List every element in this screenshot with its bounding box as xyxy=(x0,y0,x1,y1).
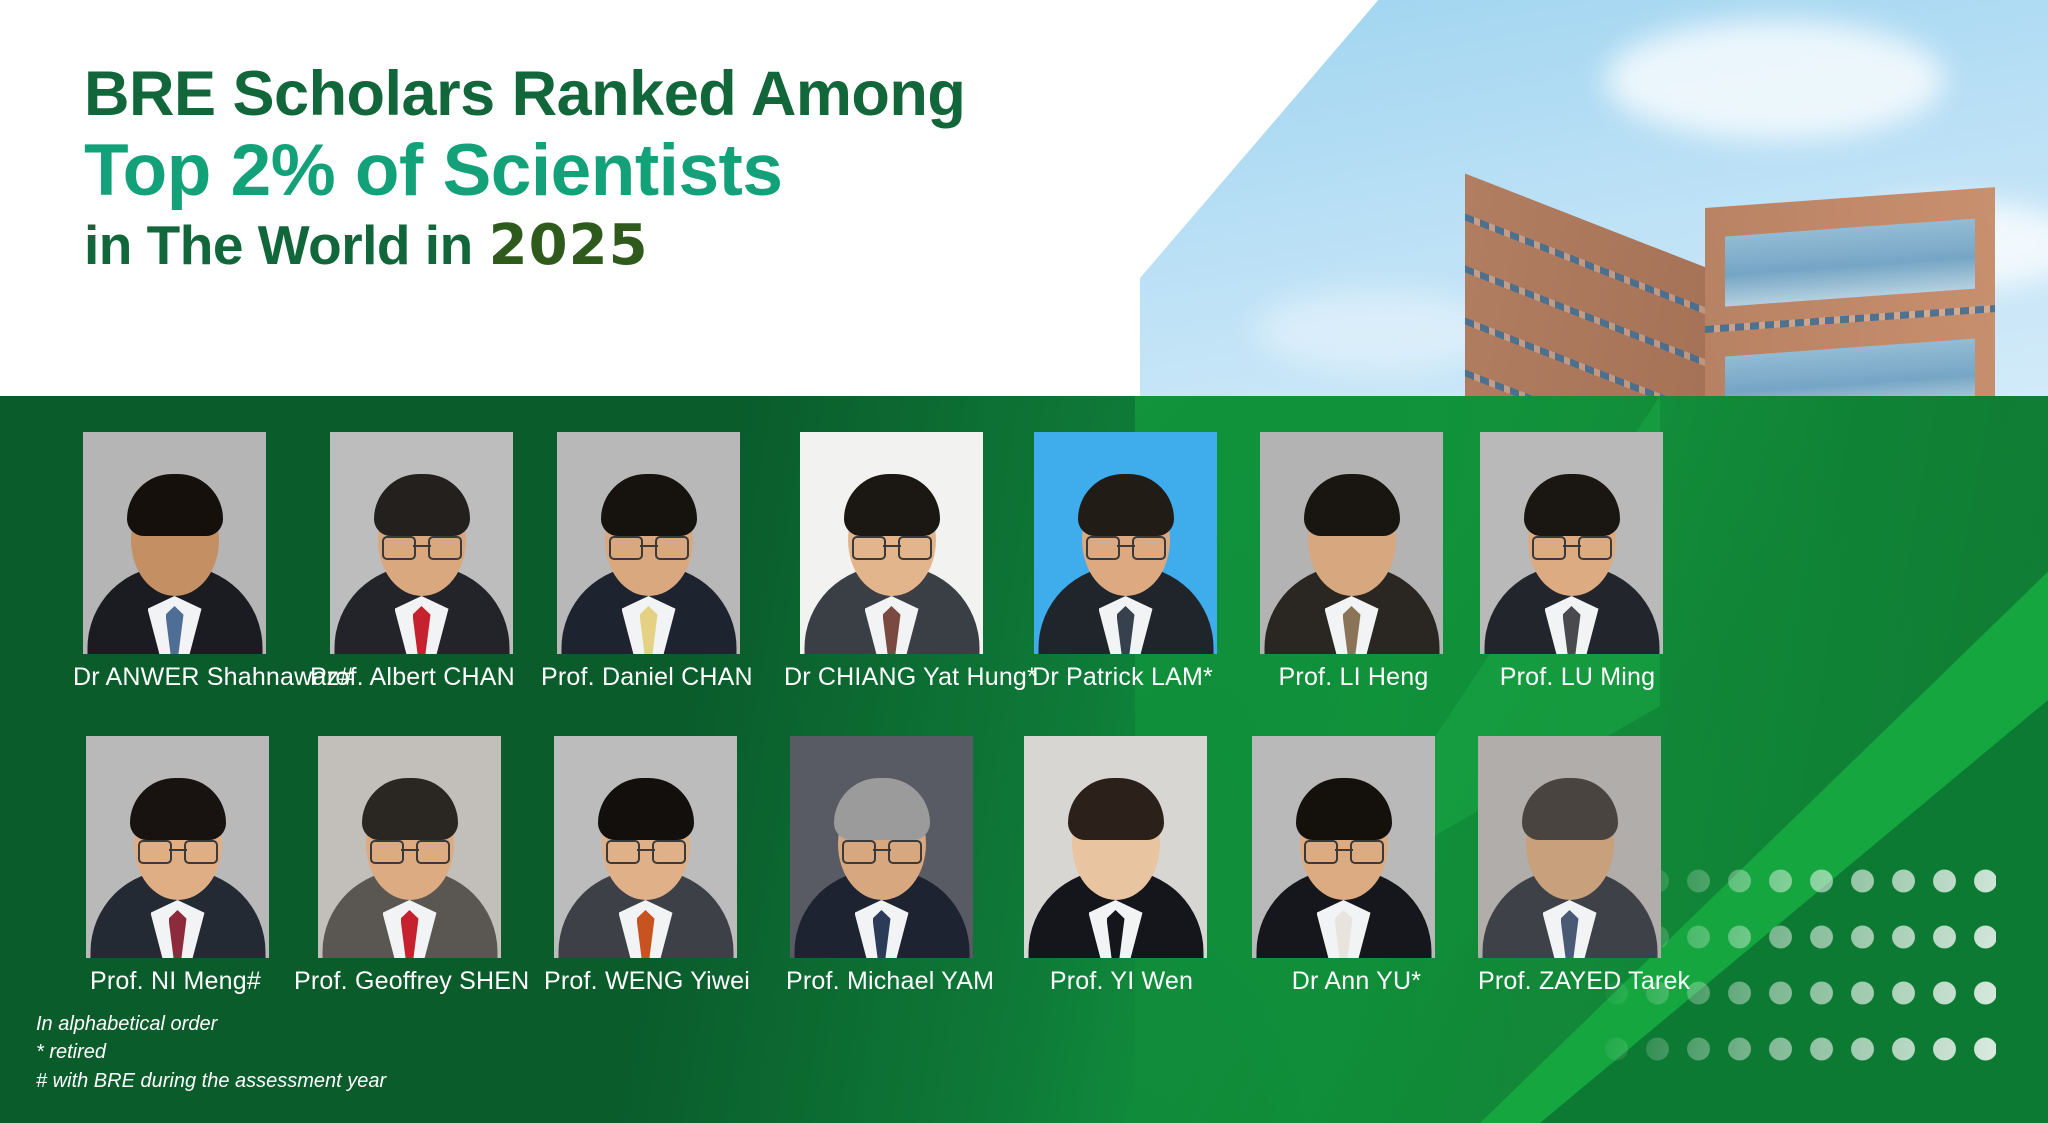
scholar-card[interactable]: Prof. LI Heng xyxy=(1260,432,1443,692)
scholar-headshot xyxy=(554,736,737,958)
scholar-headshot xyxy=(318,736,501,958)
scholar-card[interactable]: Prof. WENG Yiwei xyxy=(554,736,750,996)
footnote-line: # with BRE during the assessment year xyxy=(36,1067,386,1095)
scholar-name-label: Prof. Geoffrey SHEN xyxy=(294,967,529,996)
scholar-name-label: Dr CHIANG Yat Hung* xyxy=(784,663,1037,692)
scholar-headshot xyxy=(86,736,269,958)
scholar-headshot xyxy=(1478,736,1661,958)
scholar-card[interactable]: Prof. Daniel CHAN xyxy=(557,432,753,692)
cloud-shape xyxy=(1255,290,1495,370)
scholar-name-label: Dr Ann YU* xyxy=(1278,967,1435,996)
scholar-headshot xyxy=(790,736,973,958)
headline-year: 2025 xyxy=(489,213,649,278)
eyeglasses-icon xyxy=(842,840,922,860)
scholar-card[interactable]: Prof. NI Meng# xyxy=(86,736,269,996)
scholar-name-label: Prof. Daniel CHAN xyxy=(541,663,753,692)
scholar-headshot xyxy=(1024,736,1207,958)
scholar-headshot xyxy=(1480,432,1663,654)
eyeglasses-icon xyxy=(609,536,689,556)
headline-line-1: BRE Scholars Ranked Among xyxy=(84,62,1104,126)
eyeglasses-icon xyxy=(138,840,218,860)
scholar-name-label: Prof. WENG Yiwei xyxy=(544,967,750,996)
eyeglasses-icon xyxy=(606,840,686,860)
scholar-headshot xyxy=(1252,736,1435,958)
scholar-headshot xyxy=(1034,432,1217,654)
headline-line-3-text: in The World in xyxy=(84,214,473,276)
scholar-name-label: Prof. LI Heng xyxy=(1264,663,1443,692)
headline-line-3: in The World in2025 xyxy=(84,217,1104,274)
eyeglasses-icon xyxy=(1532,536,1612,556)
headline-line-2: Top 2% of Scientists xyxy=(84,134,1104,208)
poster-headline: BRE Scholars Ranked Among Top 2% of Scie… xyxy=(84,62,1104,274)
scholar-card[interactable]: Prof. YI Wen xyxy=(1024,736,1207,996)
scholar-headshot xyxy=(800,432,983,654)
scholar-headshot xyxy=(1260,432,1443,654)
footnote-line: * retired xyxy=(36,1038,386,1066)
eyeglasses-icon xyxy=(370,840,450,860)
eyeglasses-icon xyxy=(852,536,932,556)
scholar-headshot xyxy=(83,432,266,654)
scholar-card[interactable]: Dr ANWER Shahnawaz# xyxy=(83,432,353,692)
scholar-name-label: Prof. Albert CHAN xyxy=(310,663,515,692)
scholar-name-label: Prof. Michael YAM xyxy=(786,967,994,996)
poster-canvas: BRE Scholars Ranked Among Top 2% of Scie… xyxy=(0,0,2048,1123)
scholar-name-label: Prof. LU Ming xyxy=(1492,663,1663,692)
scholar-name-label: Prof. ZAYED Tarek xyxy=(1478,967,1690,996)
scholar-card[interactable]: Dr CHIANG Yat Hung* xyxy=(800,432,1037,692)
scholar-card[interactable]: Prof. Michael YAM xyxy=(790,736,994,996)
scholar-card[interactable]: Dr Patrick LAM* xyxy=(1034,432,1217,692)
cloud-shape xyxy=(1605,20,1945,140)
scholar-headshot xyxy=(330,432,513,654)
eyeglasses-icon xyxy=(1304,840,1384,860)
scholar-headshot xyxy=(557,432,740,654)
eyeglasses-icon xyxy=(382,536,462,556)
scholar-card[interactable]: Dr Ann YU* xyxy=(1252,736,1435,996)
scholar-card[interactable]: Prof. Geoffrey SHEN xyxy=(318,736,529,996)
scholar-name-label: Prof. NI Meng# xyxy=(82,967,269,996)
footnote-block: In alphabetical order* retired# with BRE… xyxy=(36,1010,386,1095)
scholar-name-label: Dr Patrick LAM* xyxy=(1028,663,1217,692)
scholar-name-label: Prof. YI Wen xyxy=(1036,967,1207,996)
scholar-card[interactable]: Prof. ZAYED Tarek xyxy=(1478,736,1690,996)
eyeglasses-icon xyxy=(1086,536,1166,556)
scholar-card[interactable]: Prof. LU Ming xyxy=(1480,432,1663,692)
footnote-line: In alphabetical order xyxy=(36,1010,386,1038)
scholar-card[interactable]: Prof. Albert CHAN xyxy=(330,432,515,692)
